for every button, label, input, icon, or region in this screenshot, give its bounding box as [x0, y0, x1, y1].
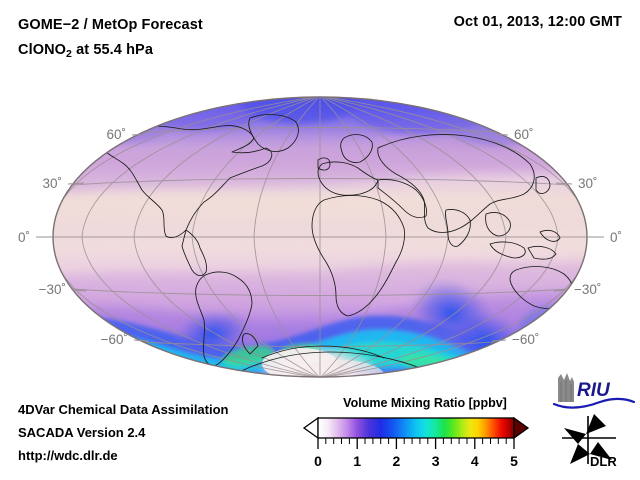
- species-title: ClONO2 at 55.4 hPa: [18, 39, 203, 63]
- colorbar-under-arrow: [304, 418, 318, 438]
- riu-label: RIU: [577, 380, 611, 401]
- lat-label-60N-left: 60˚: [106, 127, 126, 142]
- colorbar-panel: Volume Mixing Ratio [ppbv]: [300, 396, 550, 476]
- lat-label-0-left: 0˚: [18, 230, 30, 245]
- new-zealand: [586, 302, 597, 315]
- colorbar-minor-ticks: [326, 438, 506, 444]
- lat-label-30N-left: 30˚: [42, 176, 62, 191]
- map-panel: 60˚ 30˚ 0˚ −30˚ −60˚ 60˚ 30˚ 0˚ −30˚ −60…: [0, 82, 640, 387]
- lat-label-30S-left: −30˚: [39, 282, 66, 297]
- lat-label-60S-left: −60˚: [101, 332, 128, 347]
- footer-text: 4DVar Chemical Data Assimilation SACADA …: [18, 398, 229, 467]
- colorbar-title: Volume Mixing Ratio [ppbv]: [300, 396, 550, 410]
- colorbar: 0 1 2 3 4 5: [300, 416, 550, 476]
- footer-line-1: 4DVar Chemical Data Assimilation: [18, 398, 229, 421]
- colorbar-tick-labels: 0 1 2 3 4 5: [314, 453, 518, 469]
- logos-svg: RIU DLR: [548, 372, 640, 472]
- lat-label-0-right: 0˚: [610, 230, 622, 245]
- lat-label-60S-right: −60˚: [512, 332, 539, 347]
- species-name: ClONO: [18, 42, 66, 58]
- figure-title: GOME−2 / MetOp Forecast ClONO2 at 55.4 h…: [18, 14, 203, 63]
- footer-line-2: SACADA Version 2.4: [18, 421, 229, 444]
- colorbar-tick-1: 1: [353, 453, 361, 469]
- colorbar-tick-5: 5: [510, 453, 518, 469]
- footer-line-3[interactable]: http://wdc.dlr.de: [18, 444, 229, 467]
- dlr-logo: DLR: [562, 414, 617, 469]
- colorbar-over-arrow: [514, 418, 528, 438]
- lat-label-30S-right: −30˚: [574, 282, 601, 297]
- colorbar-tick-3: 3: [432, 453, 440, 469]
- colorbar-tick-0: 0: [314, 453, 322, 469]
- instrument-title: GOME−2 / MetOp Forecast: [18, 14, 203, 37]
- lat-label-30N-right: 30˚: [578, 176, 598, 191]
- species-subscript: 2: [66, 48, 72, 60]
- lat-label-60N-right: 60˚: [514, 127, 534, 142]
- colorbar-major-ticks: [318, 438, 514, 449]
- logo-group: RIU DLR: [548, 372, 640, 472]
- colorbar-gradient: [318, 418, 514, 438]
- world-map: 60˚ 30˚ 0˚ −30˚ −60˚ 60˚ 30˚ 0˚ −30˚ −60…: [0, 82, 640, 387]
- colorbar-tick-2: 2: [393, 453, 401, 469]
- datetime-label: Oct 01, 2013, 12:00 GMT: [454, 14, 622, 30]
- species-level: at 55.4 hPa: [72, 42, 153, 58]
- colorbar-tick-4: 4: [471, 453, 479, 469]
- dlr-label: DLR: [590, 454, 617, 469]
- figure-root: GOME−2 / MetOp Forecast ClONO2 at 55.4 h…: [0, 0, 640, 480]
- riu-logo: RIU: [554, 373, 634, 408]
